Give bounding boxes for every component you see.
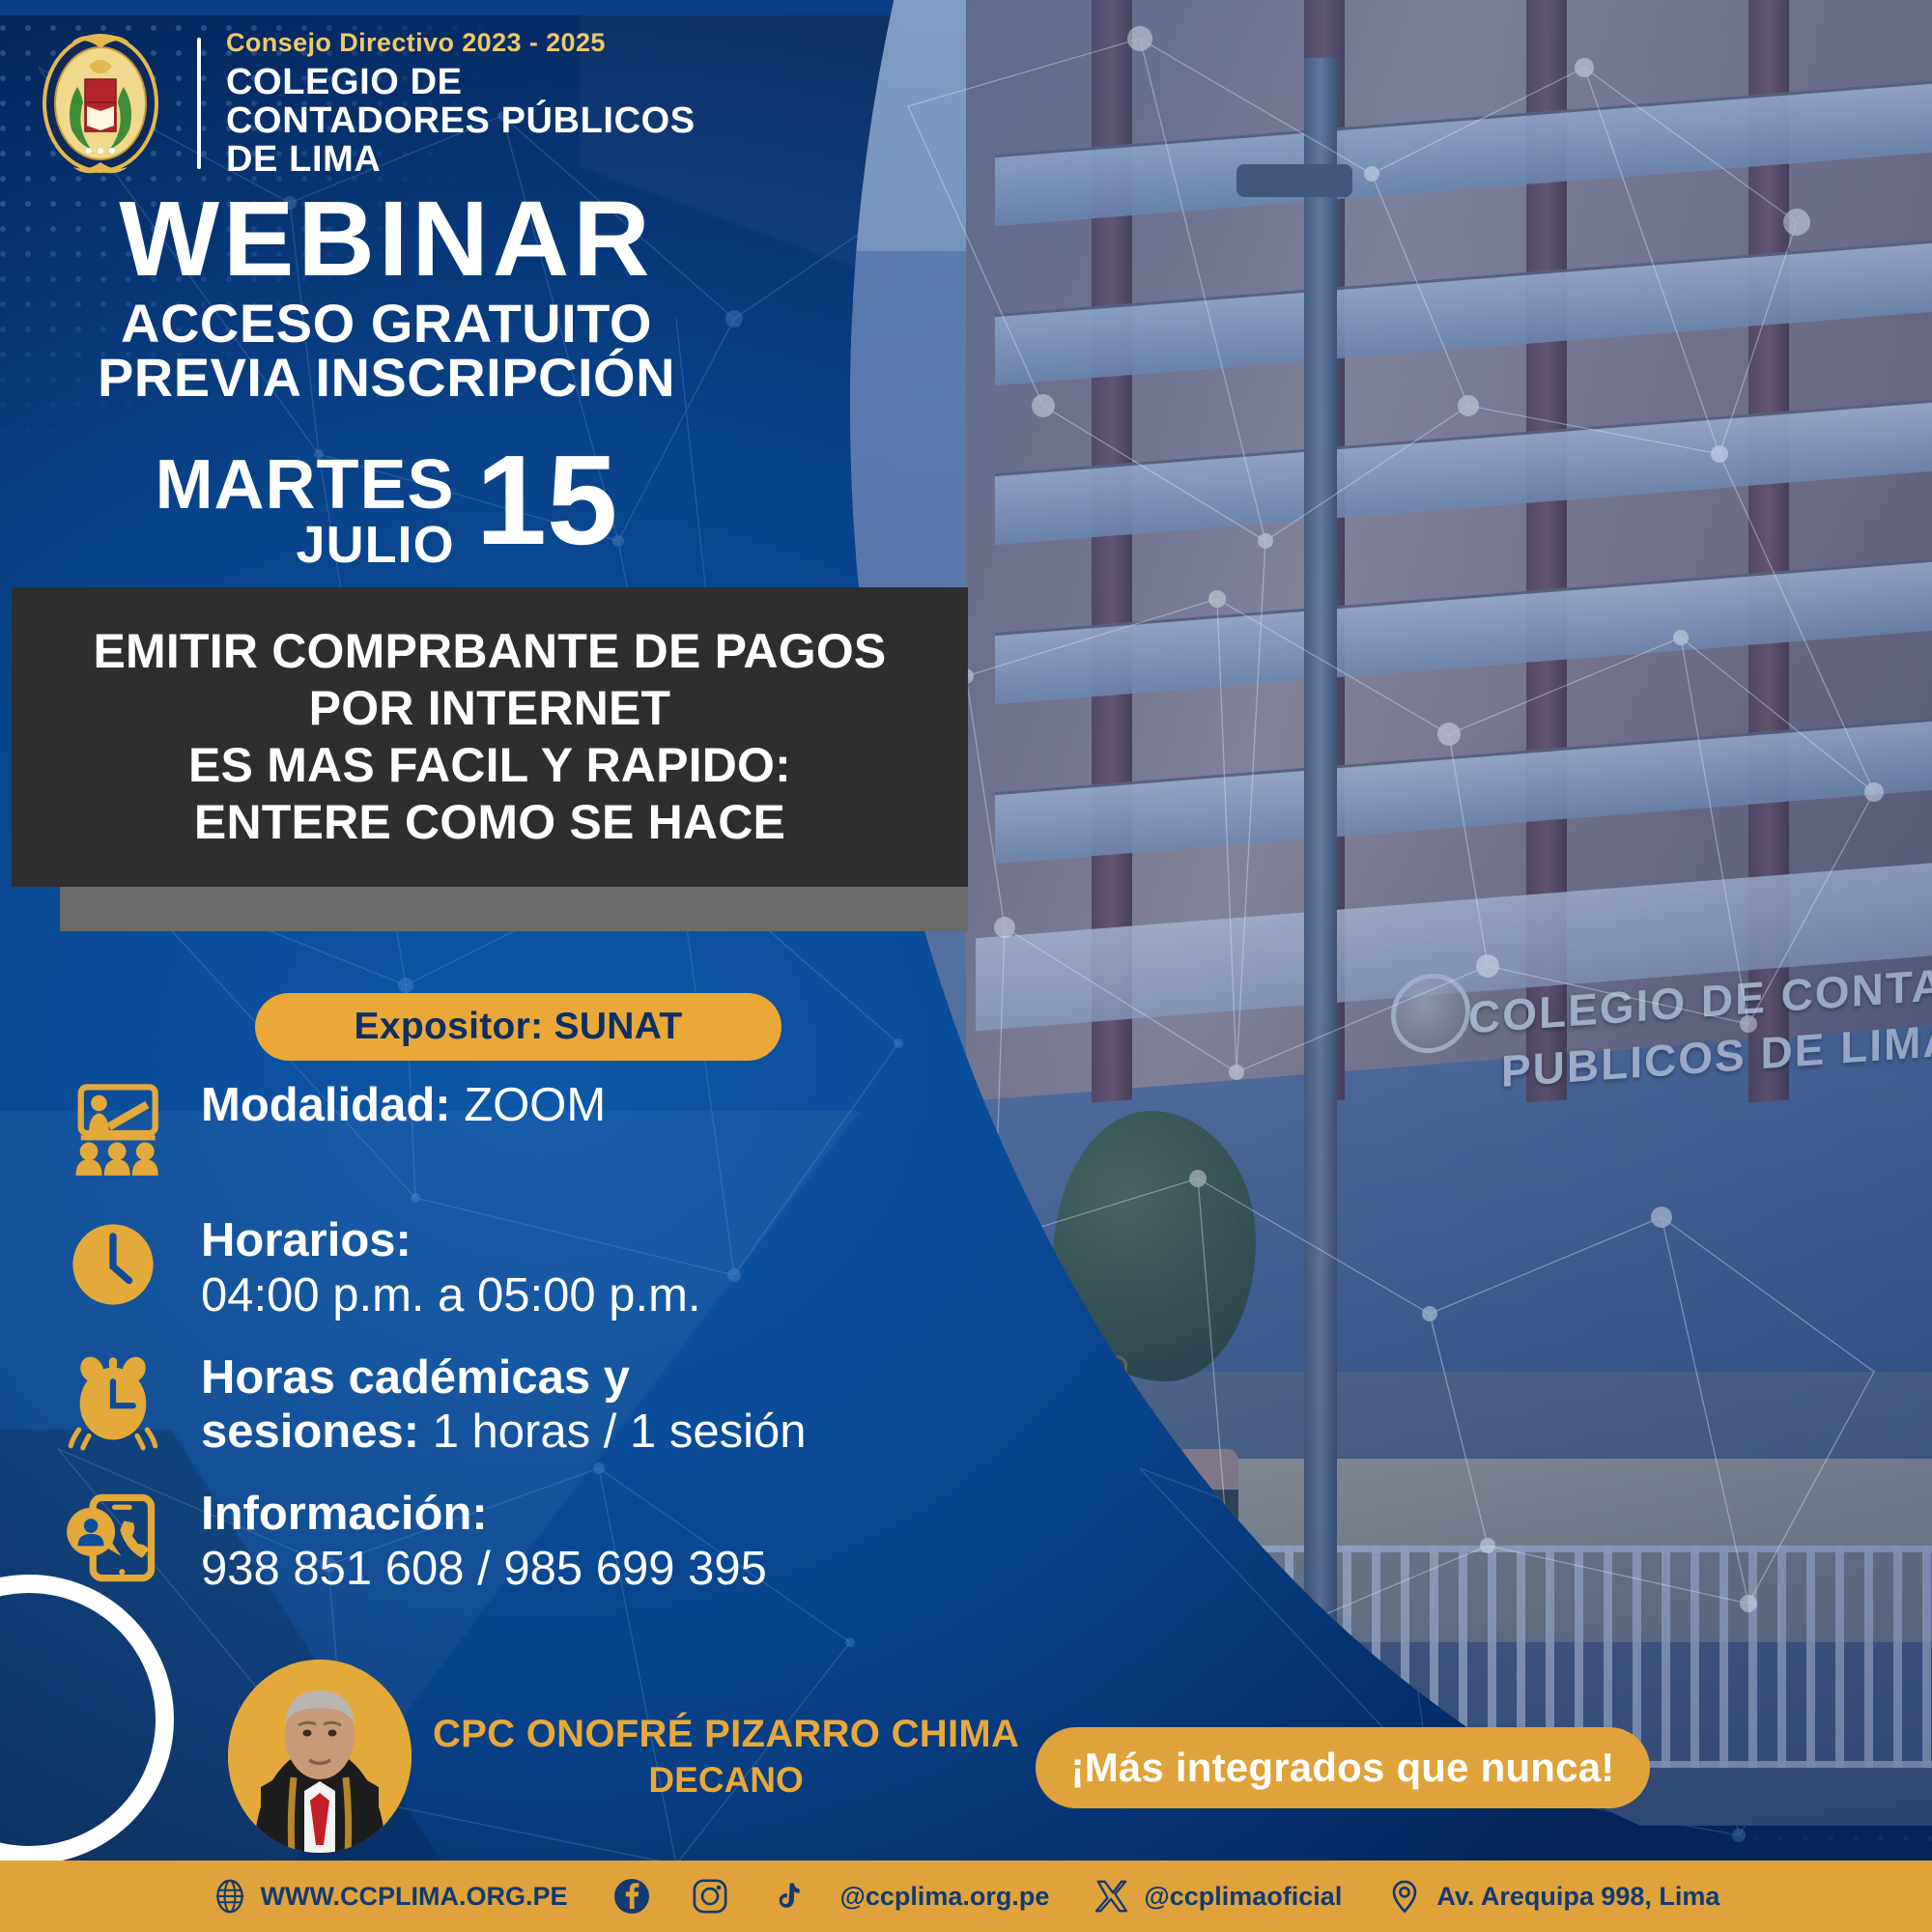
alarm-clock-icon [56, 1345, 170, 1459]
event-details-list: Modalidad: ZOOM Horarios: 04:00 p.m. a 0… [56, 1072, 1080, 1618]
decano-name: CPC ONOFRÉ PIZARRO CHIMA [433, 1710, 1019, 1758]
x-twitter-icon[interactable] [1094, 1878, 1130, 1915]
webinar-title-line-4: ENTERE COMO SE HACE [94, 794, 887, 851]
footer-website[interactable]: WWW.CCPLIMA.ORG.PE [213, 1879, 568, 1914]
detail-value-modalidad: ZOOM [464, 1079, 606, 1131]
footer-bar: WWW.CCPLIMA.ORG.PE [0, 1861, 1932, 1932]
utility-pole [1304, 58, 1337, 1700]
globe-icon [213, 1879, 247, 1914]
detail-label-sesiones: sesiones: [201, 1406, 419, 1458]
tree [1053, 1111, 1256, 1381]
event-day-number: 15 [476, 444, 618, 556]
facebook-icon[interactable] [612, 1877, 651, 1916]
footer-social-group[interactable]: @ccplima.org.pe [612, 1877, 1050, 1916]
webinar-title-line-1: EMITIR COMPRBANTE DE PAGOS [94, 623, 887, 680]
detail-label-informacion: Información: [201, 1488, 488, 1540]
detail-label-modalidad: Modalidad: [201, 1079, 451, 1131]
detail-value-informacion: 938 851 608 / 985 699 395 [201, 1542, 767, 1597]
clock-icon [56, 1207, 170, 1321]
institution-name-line-2: CONTADORES PÚBLICOS [226, 101, 696, 140]
detail-value-sesiones: 1 horas / 1 sesión [433, 1406, 807, 1458]
council-period: Consejo Directivo 2023 - 2025 [226, 28, 696, 58]
footer-x-account[interactable]: @ccplimaoficial [1094, 1878, 1342, 1915]
slogan-badge: ¡Más integrados que nunca! [1036, 1727, 1650, 1808]
institution-name-line-3: DE LIMA [226, 140, 696, 179]
phone-contact-icon [56, 1481, 170, 1595]
footer-address-label: Av. Arequipa 998, Lima [1436, 1882, 1719, 1912]
decano-avatar [228, 1660, 412, 1853]
footer-website-label: WWW.CCPLIMA.ORG.PE [261, 1882, 568, 1912]
detail-row-informacion: Información: 938 851 608 / 985 699 395 [56, 1481, 1080, 1597]
instagram-icon[interactable] [692, 1878, 728, 1915]
tiktok-icon[interactable] [769, 1879, 804, 1914]
detail-label-horarios: Horarios: [201, 1214, 412, 1266]
access-line-2: PREVIA INSCRIPCIÓN [0, 351, 773, 405]
decano-block: CPC ONOFRÉ PIZARRO CHIMA DECANO [228, 1660, 1019, 1853]
location-pin-icon [1386, 1878, 1423, 1915]
webinar-title-line-2: POR INTERNET [94, 680, 887, 737]
event-weekday: MARTES [156, 452, 455, 519]
pedestrian [1169, 1449, 1238, 1739]
decano-role: DECANO [433, 1758, 1019, 1803]
detail-value-horarios: 04:00 p.m. a 05:00 p.m. [201, 1268, 701, 1323]
webinar-title-box: EMITIR COMPRBANTE DE PAGOS POR INTERNET … [12, 587, 968, 887]
webinar-title-line-3: ES MAS FACIL Y RAPIDO: [94, 737, 887, 794]
detail-row-horarios: Horarios: 04:00 p.m. a 05:00 p.m. [56, 1207, 1080, 1323]
speaker-badge: Expositor: SUNAT [255, 993, 781, 1061]
poster-canvas: COLEGIO DE CONTADORES PUBLICOS DE LIMA 5… [0, 0, 1932, 1932]
ccpl-seal-icon [29, 27, 172, 180]
decorative-arc [0, 1575, 174, 1864]
institution-name-line-1: COLEGIO DE [226, 63, 696, 101]
institution-brand-header: Consejo Directivo 2023 - 2025 COLEGIO DE… [29, 27, 696, 180]
event-date-block: MARTES JULIO 15 [0, 444, 773, 571]
access-line-1: ACCESO GRATUITO [0, 297, 773, 351]
headline-block: WEBINAR ACCESO GRATUITO PREVIA INSCRIPCI… [0, 189, 773, 405]
brand-divider [197, 38, 201, 169]
event-month: JULIO [156, 519, 455, 571]
detail-label-horas-academicas: Horas cadémicas y [201, 1351, 630, 1404]
footer-social-handle: @ccplima.org.pe [840, 1882, 1050, 1912]
street-lamp [1236, 164, 1352, 197]
detail-row-horas-academicas: Horas cadémicas y sesiones: 1 horas / 1 … [56, 1345, 1080, 1461]
footer-x-handle: @ccplimaoficial [1144, 1882, 1342, 1912]
detail-row-modalidad: Modalidad: ZOOM [56, 1072, 1080, 1186]
footer-address[interactable]: Av. Arequipa 998, Lima [1386, 1878, 1719, 1915]
event-type-title: WEBINAR [0, 189, 773, 291]
classroom-presenter-icon [56, 1072, 170, 1186]
